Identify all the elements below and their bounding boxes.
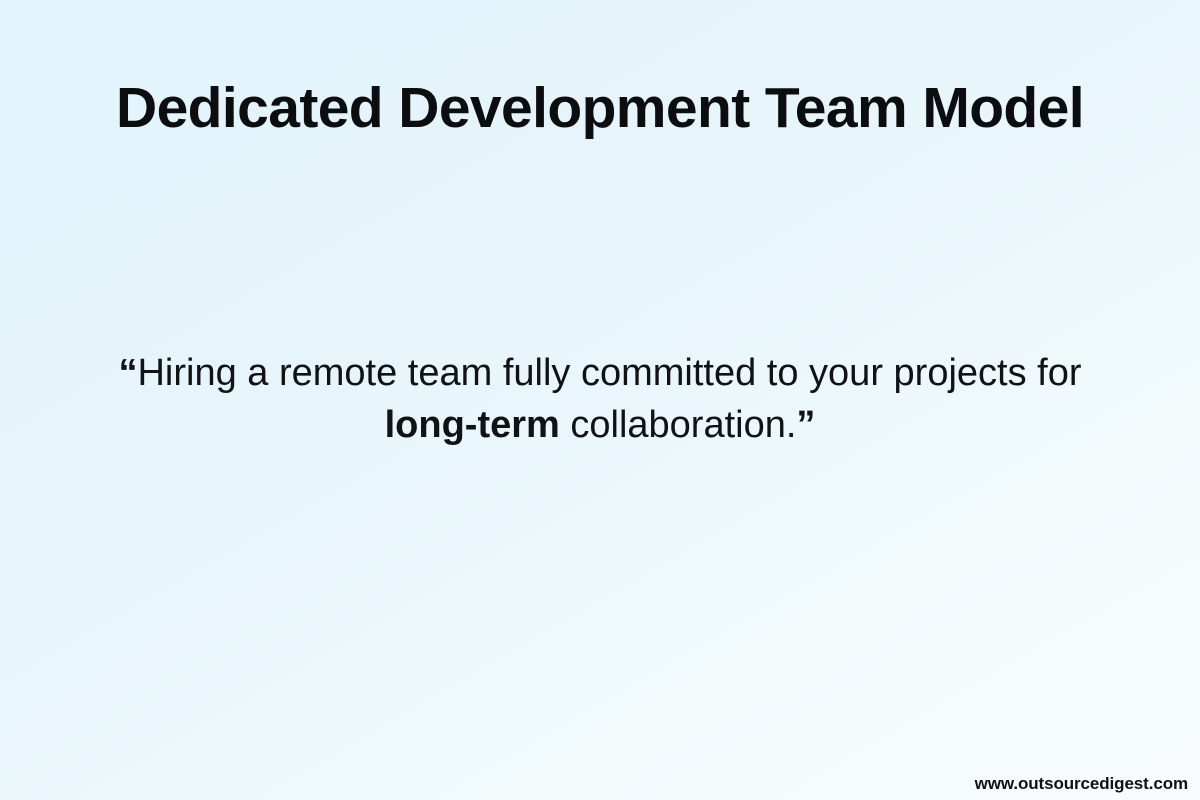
quote-emphasis-long-term: long-term [385,404,560,446]
quote-line-1: “Hiring a remote team fully committed to… [45,348,1155,400]
slide-canvas: Dedicated Development Team Model “Hiring… [0,0,1200,800]
quote-line-2: long-term collaboration.” [45,400,1155,452]
quote-line-2-text: collaboration. [560,404,797,446]
footer-website-url: www.outsourcedigest.com [975,774,1188,793]
quote-close-mark: ” [796,404,815,446]
quote-line-1-text: Hiring a remote team fully committed to … [137,352,1081,394]
title-block: Dedicated Development Team Model [0,78,1200,140]
page-title: Dedicated Development Team Model [0,78,1200,140]
quote-open-mark: “ [118,352,137,394]
quote-block: “Hiring a remote team fully committed to… [45,348,1155,451]
footer: www.outsourcedigest.com [975,774,1188,794]
